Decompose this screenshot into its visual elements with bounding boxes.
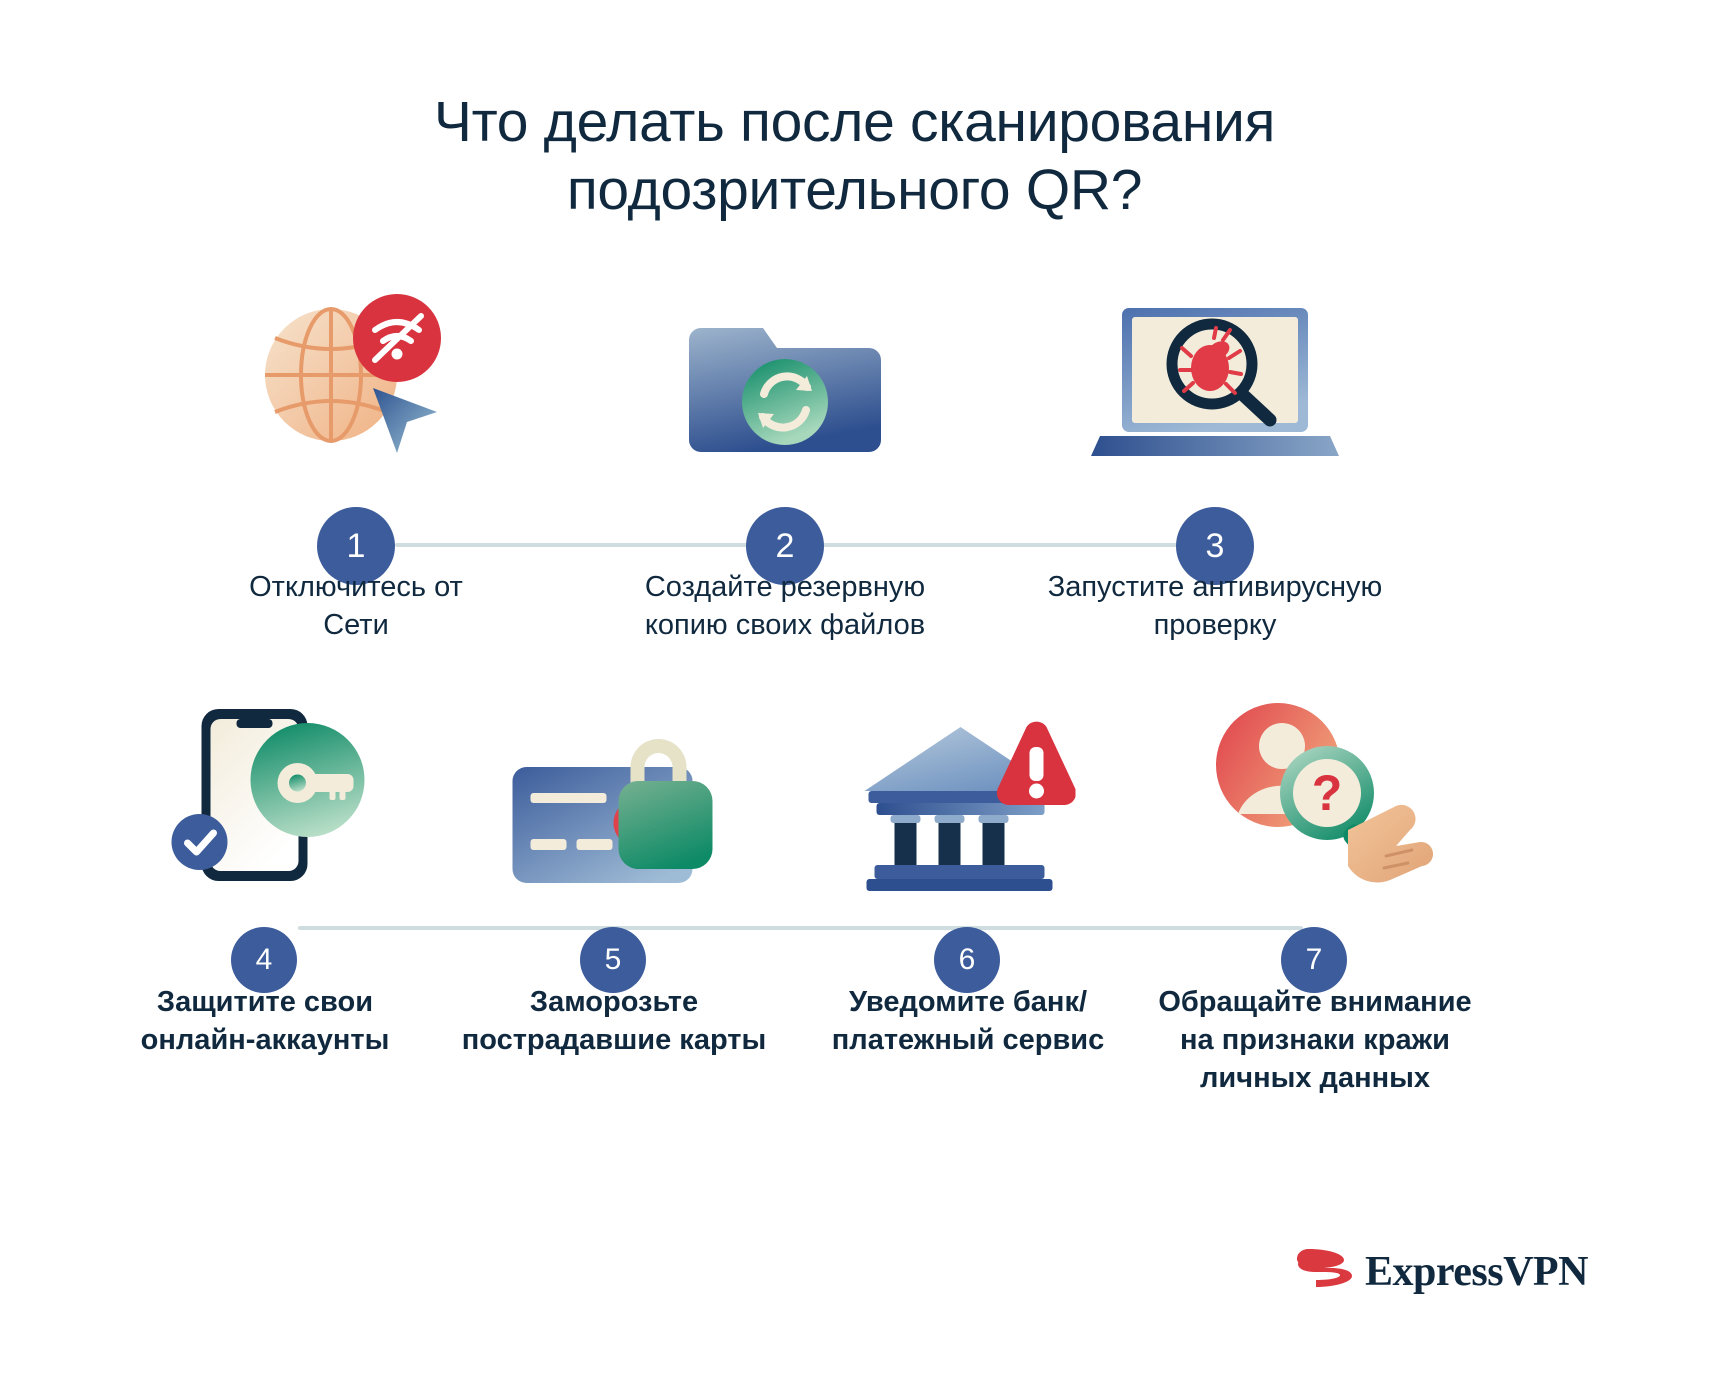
step-4: 4 Защитите свои онлайн-аккаунты [115, 695, 415, 895]
step-5-caption-line-1: Заморозьте [429, 983, 799, 1021]
title-line-2: подозрительного QR? [0, 156, 1709, 224]
globe-no-wifi-cursor-icon [251, 290, 461, 470]
step-3-number: 3 [1206, 529, 1225, 563]
step-7-illustration: ? [1165, 695, 1465, 895]
step-1-caption-line-1: Отключитесь от [196, 568, 516, 606]
step-6-number: 6 [959, 945, 976, 975]
step-6-caption-line-2: платежный сервис [778, 1021, 1158, 1059]
step-1-number: 1 [347, 529, 366, 563]
infographic-page: Что делать после сканирования подозрител… [0, 0, 1709, 1385]
step-2-illustration [635, 280, 935, 470]
step-5-caption-line-2: пострадавшие карты [429, 1021, 799, 1059]
step-7: ? 7 Обращайте внимание на признаки кражи [1165, 695, 1465, 895]
folder-backup-sync-icon [685, 290, 885, 470]
step-7-caption: Обращайте внимание на признаки кражи лич… [1115, 983, 1515, 1097]
step-3-illustration [1065, 280, 1365, 470]
step-2-caption: Создайте резервную копию своих файлов [605, 568, 965, 644]
step-7-caption-line-1: Обращайте внимание [1115, 983, 1515, 1021]
step-7-caption-line-2: на признаки кражи [1115, 1021, 1515, 1059]
step-1-caption: Отключитесь от Сети [196, 568, 516, 644]
step-6-illustration [818, 695, 1118, 895]
laptop-bug-scan-icon [1090, 290, 1340, 470]
step-7-caption-line-3: личных данных [1115, 1059, 1515, 1097]
step-7-number: 7 [1306, 945, 1323, 975]
connector-line-row-2 [298, 926, 1303, 930]
svg-text:?: ? [1312, 765, 1343, 821]
brand-logo: ExpressVPN [1297, 1243, 1588, 1301]
step-4-illustration [115, 695, 415, 895]
step-6-caption: Уведомите банк/ платежный сервис [778, 983, 1158, 1059]
step-4-caption: Защитите свои онлайн-аккаунты [85, 983, 445, 1059]
step-1-illustration [206, 280, 506, 470]
step-6-caption-line-1: Уведомите банк/ [778, 983, 1158, 1021]
step-3-caption-line-1: Запустите антивирусную [1020, 568, 1410, 606]
bank-warning-icon [861, 695, 1076, 895]
step-4-number: 4 [256, 945, 273, 975]
step-5-caption: Заморозьте пострадавшие карты [429, 983, 799, 1059]
brand-name: ExpressVPN [1365, 1248, 1588, 1296]
step-2: 2 Создайте резервную копию своих файлов [635, 280, 935, 470]
step-3-caption-line-2: проверку [1020, 606, 1410, 644]
step-3: 3 Запустите антивирусную проверку [1065, 280, 1365, 470]
step-3-caption: Запустите антивирусную проверку [1020, 568, 1410, 644]
step-1: 1 Отключитесь от Сети [206, 280, 506, 470]
step-5-illustration [464, 695, 764, 895]
step-4-caption-line-2: онлайн-аккаунты [85, 1021, 445, 1059]
identity-theft-magnifier-icon: ? [1190, 680, 1440, 895]
step-1-caption-line-2: Сети [196, 606, 516, 644]
title-line-1: Что делать после сканирования [434, 90, 1275, 154]
step-2-caption-line-1: Создайте резервную [605, 568, 965, 606]
step-4-caption-line-1: Защитите свои [85, 983, 445, 1021]
step-2-caption-line-2: копию своих файлов [605, 606, 965, 644]
phone-key-secure-icon [158, 695, 373, 895]
credit-card-lock-icon [507, 695, 722, 895]
expressvpn-logo-icon [1297, 1243, 1353, 1301]
step-2-number: 2 [776, 529, 795, 563]
page-title: Что делать после сканирования подозрител… [0, 88, 1709, 224]
step-6: 6 Уведомите банк/ платежный сервис [818, 695, 1118, 895]
step-5: 5 Заморозьте пострадавшие карты [464, 695, 764, 895]
step-5-number: 5 [605, 945, 622, 975]
